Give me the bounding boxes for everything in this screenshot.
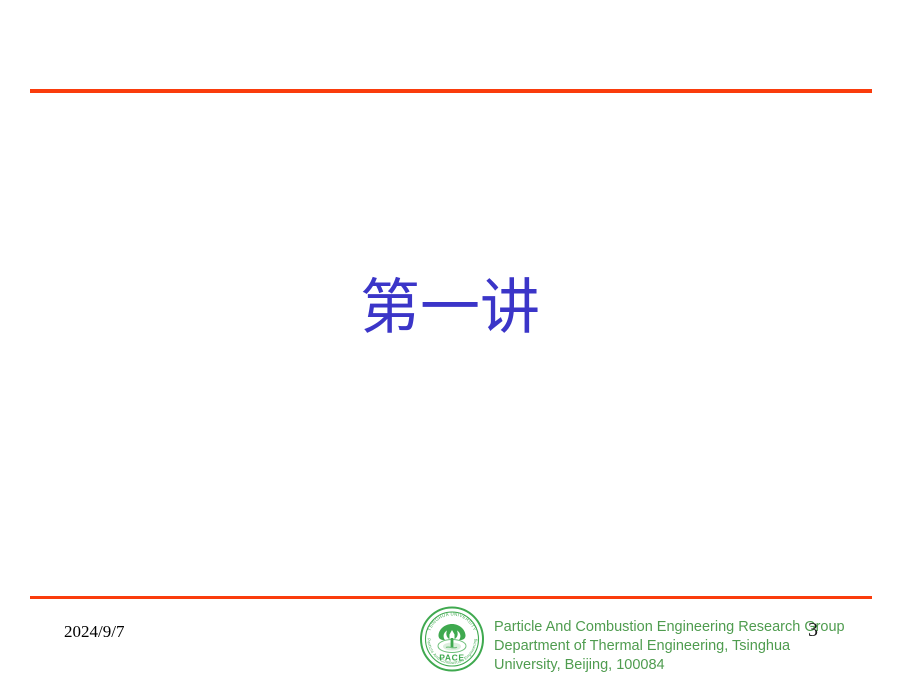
footer-date: 2024/9/7 xyxy=(64,622,124,642)
slide-canvas: 第一讲 2024/9/7 TSINGHUA UNIVERSITY Particl… xyxy=(0,0,900,675)
pace-seal-logo: TSINGHUA UNIVERSITY Particle And Combust… xyxy=(418,606,486,672)
bottom-divider xyxy=(30,596,872,599)
svg-text:PACE: PACE xyxy=(439,653,464,663)
page-title: 第一讲 xyxy=(360,278,540,338)
affiliation-line-3: University, Beijing, 100084 xyxy=(494,656,894,675)
footer-affiliation: Particle And Combustion Engineering Rese… xyxy=(494,618,894,675)
affiliation-line-1: Particle And Combustion Engineering Rese… xyxy=(494,618,894,637)
affiliation-line-2: Department of Thermal Engineering, Tsing… xyxy=(494,637,894,656)
top-divider xyxy=(30,89,872,93)
page-number: 3 xyxy=(808,619,818,642)
title-area: 第一讲 xyxy=(0,258,900,358)
